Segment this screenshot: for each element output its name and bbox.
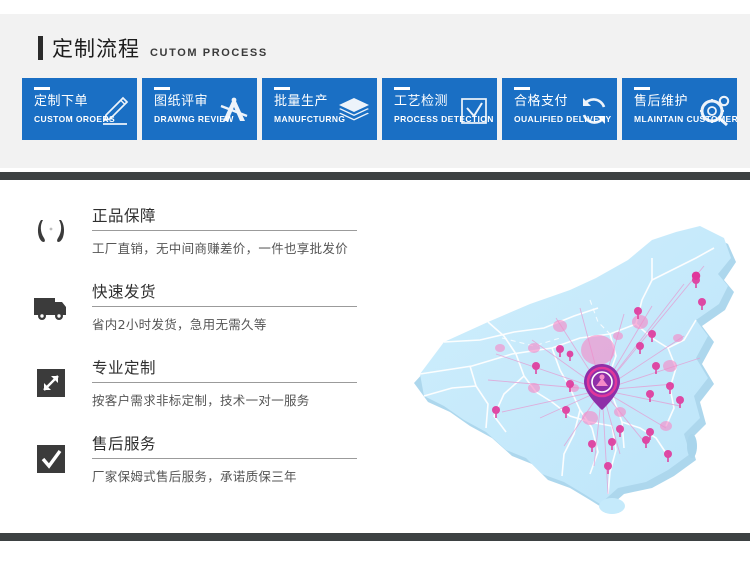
process-card-maintain-customer[interactable]: 售后维护 MLAINTAIN CUSTOMER (622, 78, 737, 140)
features-and-map-section: 正品保障 工厂直销，无中间商赚差价，一件也享批发价 快速发货 省内2小时发 (0, 180, 750, 533)
drafting-compass-icon (217, 94, 251, 128)
section-heading: 定制流程 CUTOM PROCESS (0, 14, 750, 63)
card-dash (394, 87, 410, 90)
feature-text: 快速发货 省内2小时发货，急用无需久等 (92, 278, 420, 333)
page-subtitle: CUTOM PROCESS (150, 47, 268, 59)
divider-bar-top (0, 172, 750, 180)
top-spacer (0, 0, 750, 14)
divider-bar-bottom (0, 533, 750, 541)
bottom-spacer (0, 541, 750, 574)
feature-title: 快速发货 (92, 280, 357, 307)
pencil-icon (97, 94, 131, 128)
feature-desc: 工厂直销，无中间商赚差价，一件也享批发价 (92, 238, 420, 257)
feature-list: 正品保障 工厂直销，无中间商赚差价，一件也享批发价 快速发货 省内2小时发 (0, 180, 420, 506)
checkmark-square-icon (30, 438, 72, 480)
feature-title: 专业定制 (92, 356, 357, 383)
layers-icon (337, 94, 371, 128)
refresh-cycle-icon (577, 94, 611, 128)
process-card-qualified-delivery[interactable]: 合格支付 OUALIFIED DELIVERY (502, 78, 617, 140)
feature-item-after-sales: 售后服务 厂家保姆式售后服务，承诺质保三年 (0, 430, 420, 506)
delivery-truck-icon (30, 286, 72, 328)
gear-search-icon (697, 94, 731, 128)
card-dash (154, 87, 170, 90)
protecting-hands-icon (30, 210, 72, 252)
process-card-process-detection[interactable]: 工艺检测 PROCESS DETECTION (382, 78, 497, 140)
feature-text: 专业定制 按客户需求非标定制，技术一对一服务 (92, 354, 420, 409)
feature-text: 售后服务 厂家保姆式售后服务，承诺质保三年 (92, 430, 420, 485)
feature-item-fast-shipping: 快速发货 省内2小时发货，急用无需久等 (0, 278, 420, 354)
process-card-row: 定制下单 CUSTOM OROERS 图纸评审 DRAWNG REVIEW (0, 63, 750, 140)
card-dash (634, 87, 650, 90)
feature-title: 正品保障 (92, 204, 357, 231)
feature-title: 售后服务 (92, 432, 357, 459)
process-card-manufacturing[interactable]: 批量生产 MANUFCTURNG (262, 78, 377, 140)
card-dash (34, 87, 50, 90)
feature-desc: 按客户需求非标定制，技术一对一服务 (92, 390, 420, 409)
feature-desc: 省内2小时发货，急用无需久等 (92, 314, 420, 333)
feature-item-authenticity: 正品保障 工厂直销，无中间商赚差价，一件也享批发价 (0, 202, 420, 278)
process-card-custom-orders[interactable]: 定制下单 CUSTOM OROERS (22, 78, 137, 140)
heading-accent-bar (38, 36, 43, 60)
page-title: 定制流程 (52, 33, 140, 63)
feature-desc: 厂家保姆式售后服务，承诺质保三年 (92, 466, 420, 485)
diagonal-arrows-icon (30, 362, 72, 404)
card-dash (274, 87, 290, 90)
china-distribution-map (384, 188, 750, 528)
feature-item-custom-made: 专业定制 按客户需求非标定制，技术一对一服务 (0, 354, 420, 430)
custom-process-section: 定制流程 CUTOM PROCESS 定制下单 CUSTOM OROERS 图纸… (0, 14, 750, 168)
feature-text: 正品保障 工厂直销，无中间商赚差价，一件也享批发价 (92, 202, 420, 257)
checkbox-icon (457, 94, 491, 128)
card-dash (514, 87, 530, 90)
process-card-drawing-review[interactable]: 图纸评审 DRAWNG REVIEW (142, 78, 257, 140)
